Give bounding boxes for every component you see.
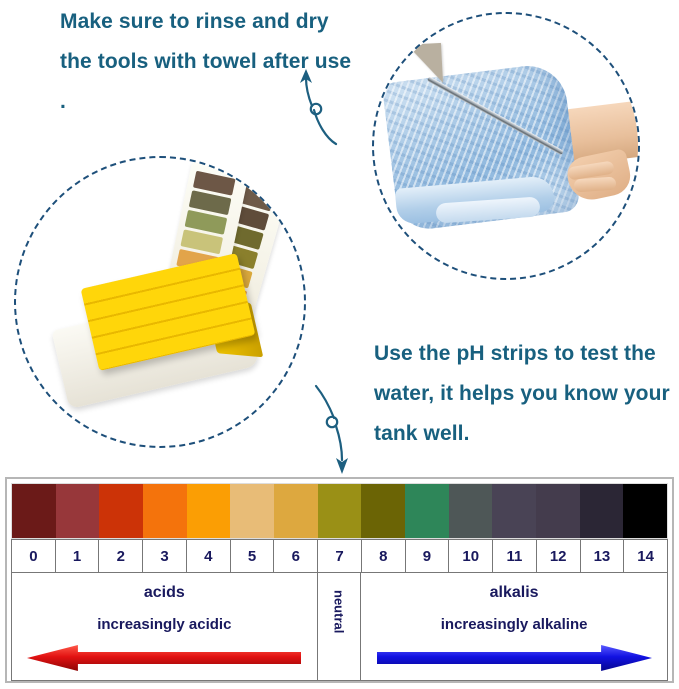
ph-number-9: 9 xyxy=(406,540,450,572)
ph-swatch-2 xyxy=(99,484,143,538)
zone-sublabel-alkalis: increasingly alkaline xyxy=(441,616,588,633)
ph-number-6: 6 xyxy=(274,540,318,572)
ph-swatch-5 xyxy=(230,484,274,538)
ph-swatch-10 xyxy=(449,484,493,538)
ph-swatch-11 xyxy=(492,484,536,538)
ph-swatch-13 xyxy=(580,484,624,538)
ph-number-3: 3 xyxy=(143,540,187,572)
zone-label-acids: acids xyxy=(144,584,185,602)
strips-photo-art xyxy=(16,158,304,446)
zone-sublabel-acids: increasingly acidic xyxy=(97,616,231,633)
ph-number-row: 01234567891011121314 xyxy=(11,539,668,573)
ph-color-bar xyxy=(11,483,668,539)
ph-number-4: 4 xyxy=(187,540,231,572)
scraper-blade-icon xyxy=(399,43,443,85)
ph-number-11: 11 xyxy=(493,540,537,572)
ph-number-14: 14 xyxy=(624,540,668,572)
ph-swatch-14 xyxy=(623,484,667,538)
ph-number-8: 8 xyxy=(362,540,406,572)
ph-number-12: 12 xyxy=(537,540,581,572)
ph-swatch-8 xyxy=(361,484,405,538)
instruction-ph-strips-text: Use the pH strips to test the water, it … xyxy=(374,334,674,454)
ph-swatch-12 xyxy=(536,484,580,538)
ph-swatch-7 xyxy=(318,484,362,538)
photo-ph-strip-book xyxy=(14,156,306,448)
towel-photo-art xyxy=(374,14,638,278)
ph-scale-chart: 01234567891011121314 acids increasingly … xyxy=(5,477,674,683)
photo-towel-cleaning xyxy=(372,12,640,280)
ph-number-2: 2 xyxy=(99,540,143,572)
ph-legend-row: acids increasingly acidic neutral xyxy=(11,573,668,681)
curved-arrow-up-icon xyxy=(280,66,340,146)
ph-number-7: 7 xyxy=(318,540,362,572)
ph-swatch-9 xyxy=(405,484,449,538)
ph-zone-acids: acids increasingly acidic xyxy=(12,573,318,680)
infographic-page: Make sure to rinse and dry the tools wit… xyxy=(0,0,679,689)
ph-zone-neutral: neutral xyxy=(318,573,362,680)
ph-number-13: 13 xyxy=(581,540,625,572)
ph-swatch-0 xyxy=(12,484,56,538)
ph-number-5: 5 xyxy=(231,540,275,572)
ph-swatch-1 xyxy=(56,484,100,538)
zone-label-neutral: neutral xyxy=(331,590,346,633)
zone-label-alkalis: alkalis xyxy=(490,584,539,602)
ph-number-1: 1 xyxy=(56,540,100,572)
ph-number-10: 10 xyxy=(449,540,493,572)
arrow-increasingly-alkaline-icon xyxy=(377,645,652,671)
ph-swatch-6 xyxy=(274,484,318,538)
arrow-increasingly-acidic-icon xyxy=(27,645,301,671)
ph-swatch-4 xyxy=(187,484,231,538)
ph-number-0: 0 xyxy=(12,540,56,572)
ph-swatch-3 xyxy=(143,484,187,538)
curved-arrow-down-icon xyxy=(310,384,370,476)
ph-zone-alkalis: alkalis increasingly alkaline xyxy=(361,573,667,680)
